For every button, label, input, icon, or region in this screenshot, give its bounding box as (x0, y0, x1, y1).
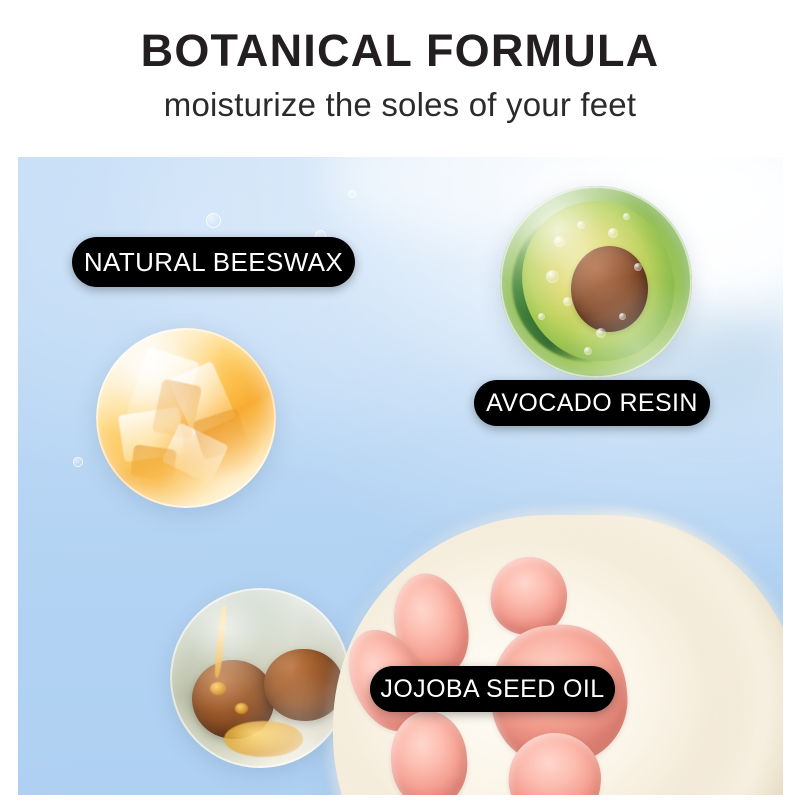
ingredient-label-jojoba[interactable]: JOJOBA SEED OIL (370, 666, 615, 712)
bubble-icon (73, 457, 83, 467)
bubble-icon (348, 190, 356, 198)
ingredient-label-avocado[interactable]: AVOCADO RESIN (474, 380, 710, 426)
header: BOTANICAL FORMULA moisturize the soles o… (0, 0, 800, 157)
avocado-sphere (500, 186, 692, 378)
water-droplet (623, 213, 630, 220)
cat-paw (333, 515, 783, 795)
ingredient-label-text: JOJOBA SEED OIL (380, 675, 604, 704)
oil-droplet (235, 703, 248, 714)
avocado-pit (571, 246, 648, 332)
ingredient-label-text: AVOCADO RESIN (486, 389, 698, 418)
photo-panel: NATURAL BEESWAX AVOCADO RESIN JOJOBA SEE… (18, 157, 783, 795)
beeswax-sphere (96, 328, 276, 508)
page-title: BOTANICAL FORMULA (0, 28, 800, 73)
water-droplet (554, 236, 565, 247)
page-subtitle: moisturize the soles of your feet (0, 88, 800, 121)
water-droplet (619, 313, 626, 320)
jojoba-sphere (170, 588, 350, 768)
ingredient-label-beeswax[interactable]: NATURAL BEESWAX (72, 237, 355, 287)
water-droplet (608, 228, 618, 238)
bubble-icon (206, 213, 221, 228)
water-droplet (577, 221, 585, 229)
oil-droplet (210, 682, 226, 695)
oil-pool (224, 721, 303, 757)
product-poster: BOTANICAL FORMULA moisturize the soles o… (0, 0, 800, 800)
ingredient-label-text: NATURAL BEESWAX (84, 247, 343, 278)
